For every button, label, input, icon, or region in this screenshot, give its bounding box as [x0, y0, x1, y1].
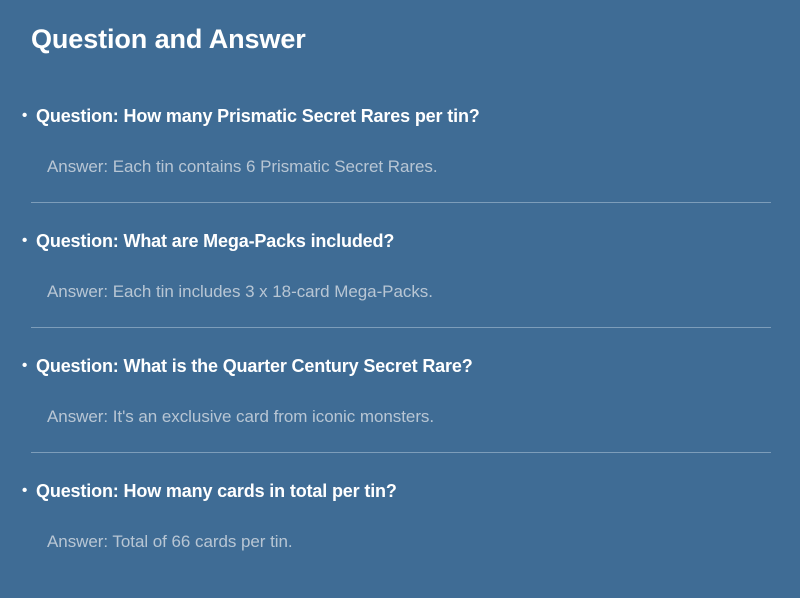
qa-page: Question and Answer • Question: How many… — [0, 0, 800, 598]
qa-question: • Question: What are Mega-Packs included… — [22, 229, 780, 253]
qa-question-text: Question: How many cards in total per ti… — [36, 479, 780, 503]
qa-item: • Question: How many cards in total per … — [0, 467, 800, 592]
qa-item: • Question: What is the Quarter Century … — [0, 342, 800, 467]
qa-question: • Question: How many cards in total per … — [22, 479, 780, 503]
qa-question-text: Question: What is the Quarter Century Se… — [36, 354, 780, 378]
qa-divider — [31, 327, 771, 328]
qa-item: • Question: How many Prismatic Secret Ra… — [0, 92, 800, 217]
qa-question: • Question: What is the Quarter Century … — [22, 354, 780, 378]
qa-answer-text: Answer: Each tin contains 6 Prismatic Se… — [47, 155, 770, 179]
qa-answer-text: Answer: Total of 66 cards per tin. — [47, 530, 770, 554]
qa-question-text: Question: What are Mega-Packs included? — [36, 229, 780, 253]
qa-divider — [31, 202, 771, 203]
qa-answer-text: Answer: It's an exclusive card from icon… — [47, 405, 770, 429]
qa-answer-text: Answer: Each tin includes 3 x 18-card Me… — [47, 280, 770, 304]
page-title: Question and Answer — [31, 22, 306, 56]
qa-question-text: Question: How many Prismatic Secret Rare… — [36, 104, 780, 128]
qa-question: • Question: How many Prismatic Secret Ra… — [22, 104, 780, 128]
qa-list: • Question: How many Prismatic Secret Ra… — [0, 92, 800, 592]
bullet-icon: • — [22, 354, 36, 378]
qa-divider — [31, 452, 771, 453]
bullet-icon: • — [22, 229, 36, 253]
qa-item: • Question: What are Mega-Packs included… — [0, 217, 800, 342]
bullet-icon: • — [22, 479, 36, 503]
bullet-icon: • — [22, 104, 36, 128]
